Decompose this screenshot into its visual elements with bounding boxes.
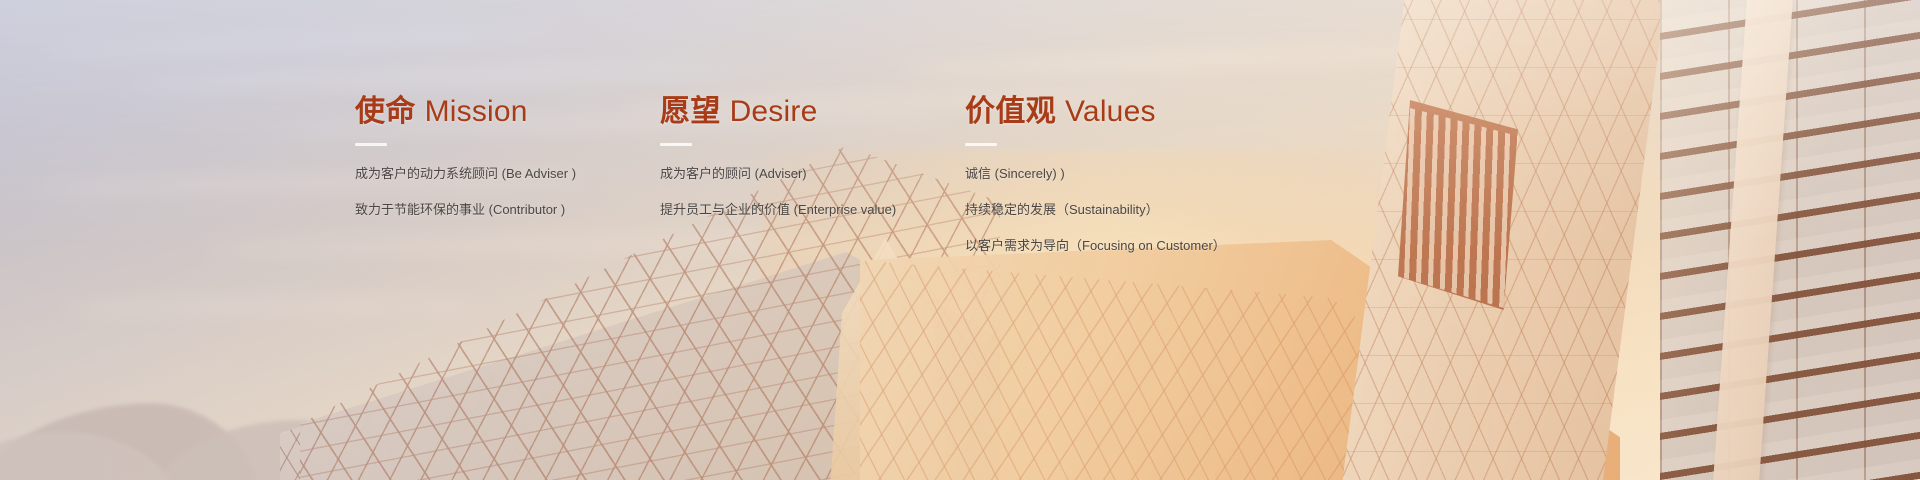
desire-heading: 愿望 Desire: [660, 96, 965, 128]
values-heading-en: Values: [1065, 95, 1156, 128]
desire-heading-en: Desire: [730, 95, 818, 128]
culture-column-desire: 愿望 Desire 成为客户的顾问 (Adviser) 提升员工与企业的价值 (…: [660, 96, 965, 220]
mission-divider: [355, 143, 387, 146]
values-line: 持续稳定的发展（Sustainability）: [965, 200, 1385, 220]
mission-heading-cn: 使命: [355, 95, 416, 128]
values-heading-cn: 价值观: [965, 95, 1056, 128]
desire-heading-cn: 愿望: [660, 95, 721, 128]
mission-heading-en: Mission: [425, 95, 528, 128]
desire-divider: [660, 143, 692, 146]
values-divider: [965, 143, 997, 146]
mission-heading: 使命 Mission: [355, 96, 660, 128]
mission-line: 成为客户的动力系统顾问 (Be Adviser ): [355, 164, 660, 184]
culture-column-values: 价值观 Values 诚信 (Sincerely) ) 持续稳定的发展（Sust…: [965, 96, 1385, 256]
values-line: 以客户需求为导向（Focusing on Customer）: [965, 236, 1385, 256]
desire-line: 成为客户的顾问 (Adviser): [660, 164, 965, 184]
company-culture-banner: 使命 Mission 成为客户的动力系统顾问 (Be Adviser ) 致力于…: [0, 0, 1920, 480]
culture-column-mission: 使命 Mission 成为客户的动力系统顾问 (Be Adviser ) 致力于…: [355, 96, 660, 220]
desire-line: 提升员工与企业的价值 (Enterprise value): [660, 200, 965, 220]
values-heading: 价值观 Values: [965, 96, 1385, 128]
values-line: 诚信 (Sincerely) ): [965, 164, 1385, 184]
mission-line: 致力于节能环保的事业 (Contributor ): [355, 200, 660, 220]
culture-columns: 使命 Mission 成为客户的动力系统顾问 (Be Adviser ) 致力于…: [0, 0, 1920, 480]
